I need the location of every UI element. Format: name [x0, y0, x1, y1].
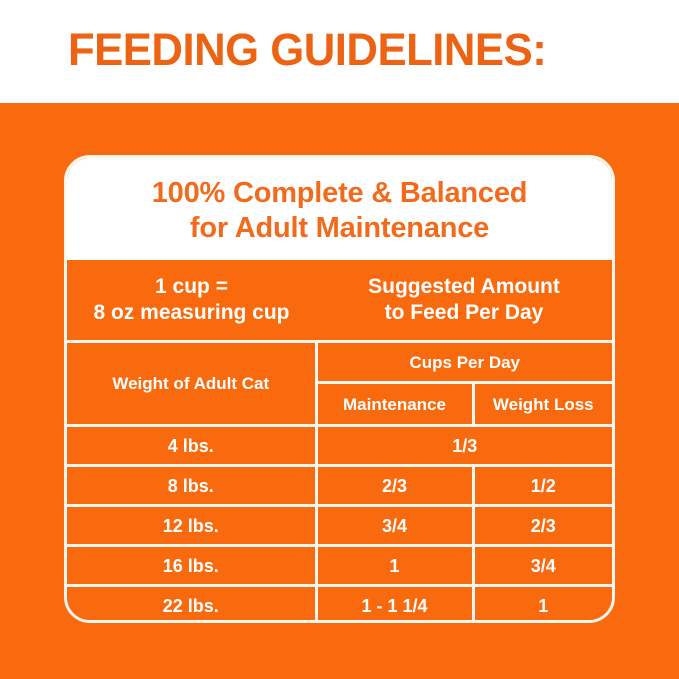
cup-note-line-1: 1 cup = [73, 274, 310, 300]
cell-maintenance: 1 - 1 1/4 [316, 586, 473, 624]
cell-maintenance: 1 [316, 546, 473, 586]
suggested-amount-line-2: to Feed Per Day [322, 300, 606, 326]
feeding-guidelines-card: 100% Complete & Balanced for Adult Maint… [64, 155, 615, 623]
column-header-weight: Weight of Adult Cat [67, 342, 316, 426]
cell-maintenance: 2/3 [316, 466, 473, 506]
column-header-cups-per-day: Cups Per Day [316, 342, 612, 383]
cell-weight: 22 lbs. [67, 586, 316, 624]
feeding-table: 1 cup = 8 oz measuring cup Suggested Amo… [67, 260, 612, 623]
table-row: 8 lbs. 2/3 1/2 [67, 466, 612, 506]
card-header: 100% Complete & Balanced for Adult Maint… [67, 158, 612, 260]
table-row: 12 lbs. 3/4 2/3 [67, 506, 612, 546]
cell-weight: 12 lbs. [67, 506, 316, 546]
table-row: 4 lbs. 1/3 [67, 426, 612, 466]
cell-weight: 16 lbs. [67, 546, 316, 586]
cell-cup-note: 1 cup = 8 oz measuring cup [67, 260, 316, 342]
page-banner: FEEDING GUIDELINES: [0, 0, 679, 103]
cell-weight-loss: 1 [473, 586, 612, 624]
cell-suggested-amount: Suggested Amount to Feed Per Day [316, 260, 612, 342]
table-row-intro: 1 cup = 8 oz measuring cup Suggested Amo… [67, 260, 612, 342]
column-header-maintenance: Maintenance [316, 383, 473, 426]
card-header-line-1: 100% Complete & Balanced [77, 176, 602, 211]
card-header-line-2: for Adult Maintenance [77, 211, 602, 246]
suggested-amount-line-1: Suggested Amount [322, 274, 606, 300]
cell-weight: 8 lbs. [67, 466, 316, 506]
table-row: 22 lbs. 1 - 1 1/4 1 [67, 586, 612, 624]
cup-note-line-2: 8 oz measuring cup [73, 300, 310, 326]
cell-weight: 4 lbs. [67, 426, 316, 466]
table-row: 16 lbs. 1 3/4 [67, 546, 612, 586]
cell-weight-loss: 2/3 [473, 506, 612, 546]
cell-weight-loss: 1/2 [473, 466, 612, 506]
column-header-weight-loss: Weight Loss [473, 383, 612, 426]
cell-weight-loss: 3/4 [473, 546, 612, 586]
cell-amount-merged: 1/3 [316, 426, 612, 466]
cell-maintenance: 3/4 [316, 506, 473, 546]
table-row-subheader-1: Weight of Adult Cat Cups Per Day [67, 342, 612, 383]
page-title: FEEDING GUIDELINES: [68, 24, 546, 76]
